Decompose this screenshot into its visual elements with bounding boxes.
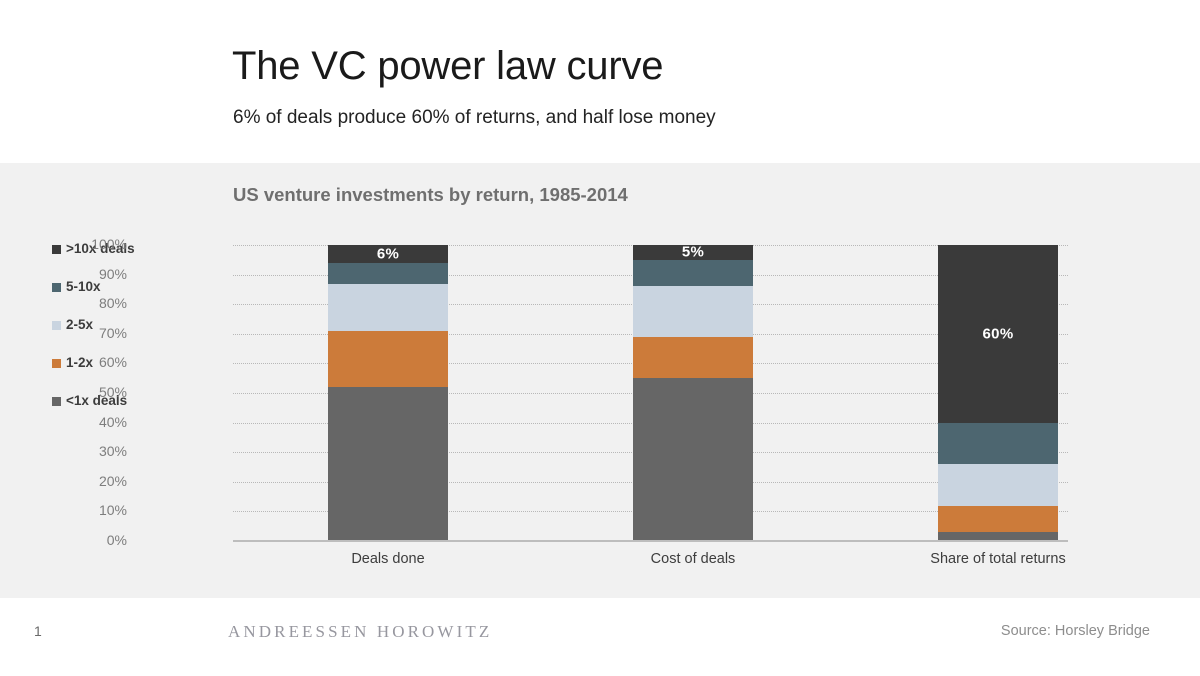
y-axis-tick: 10%: [81, 502, 127, 518]
y-axis-tick: 50%: [81, 384, 127, 400]
y-axis-tick: 0%: [81, 532, 127, 548]
bar-segment[interactable]: [633, 286, 753, 336]
bar-segment[interactable]: [328, 263, 448, 284]
bar-segment[interactable]: [633, 260, 753, 287]
bar-segment[interactable]: 5%: [633, 245, 753, 260]
chart-plot-area: 6%5%60% Deals doneCost of dealsShare of …: [233, 245, 1068, 541]
brand-wordmark: ANDREESSEN HOROWITZ: [228, 622, 492, 642]
bar-segment-label: 5%: [633, 244, 753, 261]
bar-segment-label: 60%: [938, 325, 1058, 342]
slide-header: The VC power law curve 6% of deals produ…: [0, 0, 1200, 163]
y-axis-tick: 90%: [81, 266, 127, 282]
y-axis-tick: 60%: [81, 354, 127, 370]
x-axis-tick: Cost of deals: [573, 551, 813, 567]
y-axis-tick: 100%: [81, 236, 127, 252]
y-axis-tick: 80%: [81, 295, 127, 311]
bar-segment[interactable]: [938, 506, 1058, 533]
x-axis-tick: Share of total returns: [878, 551, 1118, 567]
y-axis-tick: 20%: [81, 473, 127, 489]
stacked-bar[interactable]: 5%: [633, 245, 753, 541]
bar-segment[interactable]: [328, 331, 448, 387]
bar-segment[interactable]: [938, 464, 1058, 505]
bar-segment-label: 6%: [328, 245, 448, 262]
y-axis-tick: 30%: [81, 443, 127, 459]
page-number: 1: [34, 623, 42, 639]
x-axis-line: [233, 540, 1068, 542]
page-title: The VC power law curve: [232, 44, 663, 89]
stacked-bar[interactable]: 6%: [328, 245, 448, 541]
bar-segment[interactable]: 60%: [938, 245, 1058, 423]
page-subtitle: 6% of deals produce 60% of returns, and …: [233, 107, 716, 129]
stacked-bar[interactable]: 60%: [938, 245, 1058, 541]
bar-segment[interactable]: [633, 337, 753, 378]
y-axis-tick: 70%: [81, 325, 127, 341]
chart-title: US venture investments by return, 1985-2…: [233, 184, 628, 206]
bar-segment[interactable]: 6%: [328, 245, 448, 263]
bar-segment[interactable]: [328, 284, 448, 331]
y-axis-tick: 40%: [81, 414, 127, 430]
chart-panel: US venture investments by return, 1985-2…: [0, 163, 1200, 598]
x-axis-tick: Deals done: [268, 551, 508, 567]
slide-footer: 1 ANDREESSEN HOROWITZ Source: Horsley Br…: [0, 598, 1200, 676]
source-note: Source: Horsley Bridge: [1001, 623, 1150, 639]
bar-segment[interactable]: [633, 378, 753, 541]
bar-segment[interactable]: [328, 387, 448, 541]
bar-segment[interactable]: [938, 423, 1058, 464]
slide: The VC power law curve 6% of deals produ…: [0, 0, 1200, 676]
